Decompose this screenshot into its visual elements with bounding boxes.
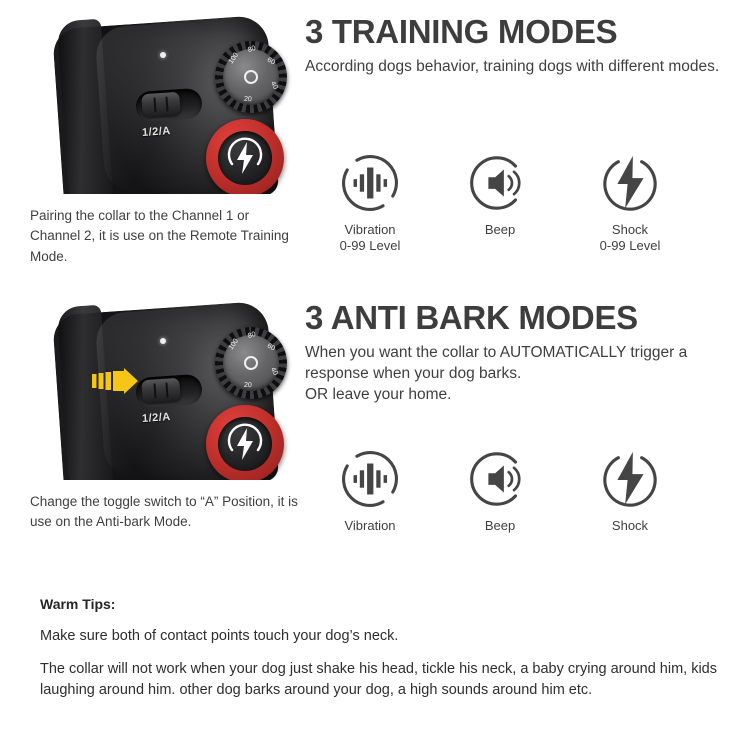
mode-label-vibration: Vibration: [305, 222, 435, 238]
warm-tips-title: Warm Tips:: [40, 596, 725, 612]
warm-tips-line-1: Make sure both of contact points touch y…: [40, 626, 725, 647]
heading-training-modes: 3 TRAINING MODES: [305, 14, 745, 50]
infographic-page: 1/2/A 100 80 60 40 20 Pairing the collar…: [0, 0, 750, 750]
led-indicator-icon: [160, 52, 166, 58]
training-left-column: 1/2/A 100 80 60 40 20 Pairing the collar…: [30, 14, 305, 267]
mode-sub-shock: 0-99 Level: [565, 238, 695, 254]
mode-row-training: Vibration 0-99 Level Beep: [305, 152, 745, 255]
shock-icon: [599, 152, 661, 214]
mode-row-antibark: Vibration Beep: [305, 448, 745, 534]
lightning-bolt-icon: [218, 417, 272, 471]
heading-anti-bark-modes: 3 ANTI BARK MODES: [305, 300, 745, 336]
beep-icon: [469, 448, 531, 510]
device-photo-antibark: 1/2/A 100 80 60 40 20: [30, 300, 300, 480]
section-training-modes: 1/2/A 100 80 60 40 20 Pairing the collar…: [0, 14, 750, 299]
mode-item-shock-antibark[interactable]: Shock: [565, 448, 695, 534]
subtext-training-modes: According dogs behavior, training dogs w…: [305, 56, 745, 77]
caption-training: Pairing the collar to the Channel 1 or C…: [30, 206, 300, 267]
beep-icon: [469, 152, 531, 214]
dial-number-20: 20: [244, 382, 252, 390]
led-indicator-icon: [160, 338, 166, 344]
vibration-icon: [339, 448, 401, 510]
mode-label-beep: Beep: [435, 222, 565, 238]
rotary-dial-center: [244, 356, 258, 370]
antibark-left-column: 1/2/A 100 80 60 40 20: [30, 300, 305, 533]
subtext-anti-bark-modes: When you want the collar to AUTOMATICALL…: [305, 342, 745, 406]
mode-item-beep-training[interactable]: Beep: [435, 152, 565, 255]
antibark-right-column: 3 ANTI BARK MODES When you want the coll…: [305, 300, 745, 406]
caption-antibark: Change the toggle switch to “A” Position…: [30, 492, 300, 533]
vibration-icon: [339, 152, 401, 214]
lightning-bolt-icon: [218, 131, 272, 185]
mode-label-shock: Shock: [565, 222, 695, 238]
toggle-switch-knob: [141, 378, 181, 404]
mode-label-beep: Beep: [435, 518, 565, 534]
warm-tips-block: Warm Tips: Make sure both of contact poi…: [40, 596, 725, 713]
mode-item-vibration-antibark[interactable]: Vibration: [305, 448, 435, 534]
mode-label-shock: Shock: [565, 518, 695, 534]
switch-label-antibark: 1/2/A: [142, 411, 172, 425]
device-photo-training: 1/2/A 100 80 60 40 20: [30, 14, 300, 194]
yellow-arrow-icon: [92, 368, 144, 394]
mode-item-vibration-training[interactable]: Vibration 0-99 Level: [305, 152, 435, 255]
switch-label-training: 1/2/A: [142, 125, 172, 139]
dial-number-20: 20: [244, 96, 252, 104]
warm-tips-line-2: The collar will not work when your dog j…: [40, 659, 725, 701]
mode-label-vibration: Vibration: [305, 518, 435, 534]
toggle-switch-knob: [141, 92, 181, 118]
mode-item-beep-antibark[interactable]: Beep: [435, 448, 565, 534]
section-anti-bark-modes: 1/2/A 100 80 60 40 20: [0, 300, 750, 575]
training-right-column: 3 TRAINING MODES According dogs behavior…: [305, 14, 745, 77]
mode-sub-vibration: 0-99 Level: [305, 238, 435, 254]
shock-icon: [599, 448, 661, 510]
mode-item-shock-training[interactable]: Shock 0-99 Level: [565, 152, 695, 255]
rotary-dial-center: [244, 70, 258, 84]
